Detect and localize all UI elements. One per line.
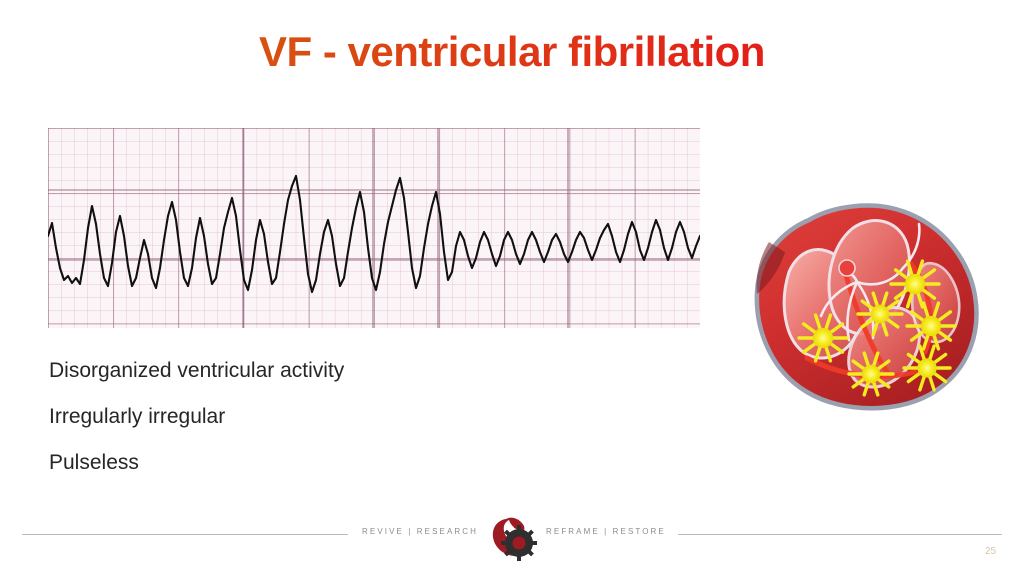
- heart-gear-logo: [484, 517, 544, 561]
- ecg-rhythm-strip: [48, 128, 700, 328]
- slide-canvas: VF - ventricular fibrillation: [0, 0, 1024, 574]
- av-node-marker: [839, 260, 855, 276]
- heart-illustration: [745, 176, 985, 416]
- heart-gear-logo-mark: [484, 517, 544, 561]
- list-item: Irregularly irregular: [49, 406, 569, 427]
- slide-footer: REVIVE | RESEARCH REFRAM: [0, 516, 1024, 560]
- footer-divider-left: [22, 534, 348, 535]
- list-item: Pulseless: [49, 452, 569, 473]
- heart-cross-section-diagram: [745, 176, 985, 416]
- page-number: 25: [985, 546, 996, 557]
- key-points-list: Disorganized ventricular activity Irregu…: [49, 360, 569, 498]
- logo-gear-hub: [513, 537, 526, 550]
- list-item: Disorganized ventricular activity: [49, 360, 569, 381]
- ecg-grid-major: [48, 128, 700, 328]
- ecg-waveform-chart: [48, 128, 700, 328]
- footer-divider-right: [678, 534, 1002, 535]
- footer-tagline-left: REVIVE | RESEARCH: [362, 527, 478, 536]
- footer-tagline-right: REFRAME | RESTORE: [546, 527, 666, 536]
- page-title: VF - ventricular fibrillation: [0, 28, 1024, 76]
